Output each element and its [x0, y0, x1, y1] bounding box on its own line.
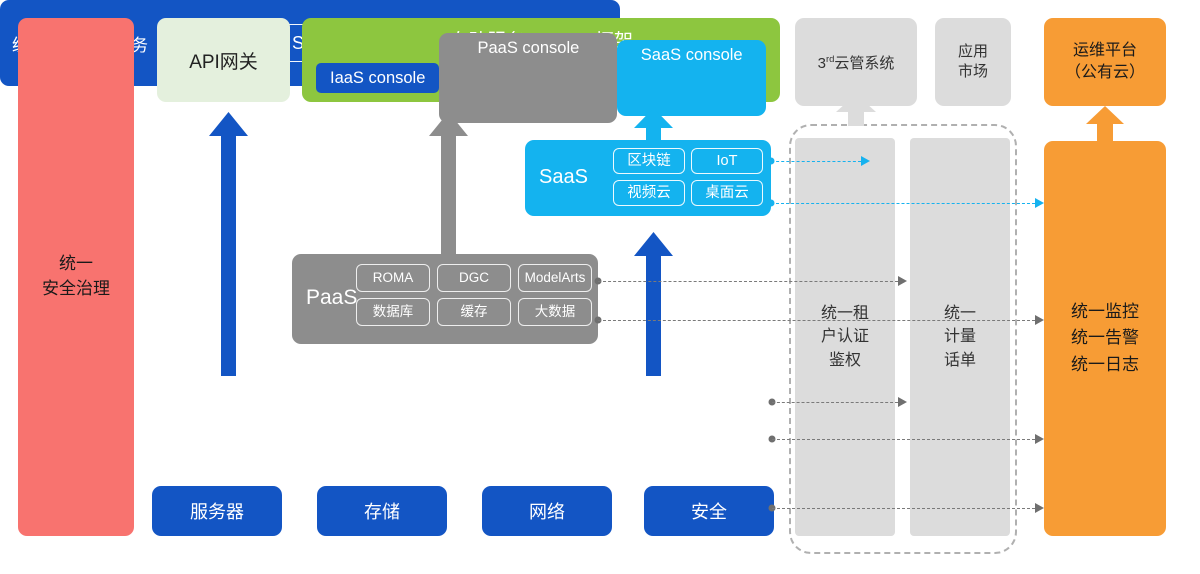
saas-tag-iot[interactable]: IoT: [691, 148, 763, 174]
hardware-box-network[interactable]: 网络: [482, 486, 612, 536]
governance-label: 统一 安全治理: [42, 252, 110, 301]
connector-paas-to-tenant-auth: [598, 281, 898, 282]
paas-block[interactable]: PaaS ROMA DGC ModelArts 数据库 缓存 大数据: [292, 254, 598, 344]
arrowhead-saas-to-tenant-auth: [861, 156, 870, 166]
connector-infra-to-ops-panel: [772, 439, 1035, 440]
cloud-mgmt-label: 3rd云管系统: [818, 52, 895, 73]
arrow-infra-to-saas: [634, 232, 673, 376]
hardware-label-server: 服务器: [190, 498, 244, 524]
api-gateway-label: API网关: [189, 47, 258, 74]
api-gateway-block[interactable]: API网关: [157, 18, 290, 102]
connector-saas-to-ops-panel: [771, 203, 1035, 204]
arrowhead-hardware-to-ops-panel: [1035, 503, 1044, 513]
connector-infra-to-tenant-auth: [772, 402, 898, 403]
ops-top-label: 运维平台 （公有云）: [1065, 40, 1145, 83]
hardware-box-server[interactable]: 服务器: [152, 486, 282, 536]
paas-console-pill[interactable]: PaaS console: [439, 33, 617, 123]
tenant-auth-label: 统一租 户认证 鉴权: [821, 302, 869, 372]
iaas-console-pill[interactable]: IaaS console: [316, 63, 439, 93]
saas-label: SaaS: [539, 166, 588, 189]
hardware-label-security: 安全: [691, 498, 727, 524]
third-party-cloud-management-block[interactable]: 3rd云管系统: [795, 18, 917, 106]
unified-monitoring-alarm-log-panel[interactable]: 统一监控 统一告警 统一日志: [1044, 141, 1166, 536]
arrowhead-paas-to-tenant-auth: [898, 276, 907, 286]
arrow-ops-panel-to-ops-top: [1086, 106, 1124, 142]
unified-metering-billing-column[interactable]: 统一 计量 话单: [910, 138, 1010, 536]
paas-tag-group: ROMA DGC ModelArts 数据库 缓存 大数据: [356, 264, 592, 326]
arrowhead-infra-to-tenant-auth: [898, 397, 907, 407]
arrow-paas-to-console: [429, 112, 468, 254]
paas-label: PaaS: [306, 286, 357, 310]
connector-saas-to-tenant-auth: [771, 161, 861, 162]
hardware-label-storage: 存储: [364, 498, 400, 524]
arrowhead-paas-to-ops-panel: [1035, 315, 1044, 325]
saas-tag-group: 区块链 IoT 视频云 桌面云: [613, 148, 763, 206]
paas-tag-dgc[interactable]: DGC: [437, 264, 511, 292]
arrow-infra-to-api-gateway: [209, 112, 248, 376]
saas-tag-video-cloud[interactable]: 视频云: [613, 180, 685, 206]
unified-tenant-auth-column[interactable]: 统一租 户认证 鉴权: [795, 138, 895, 536]
arrowhead-saas-to-ops-panel: [1035, 198, 1044, 208]
architecture-diagram: 统一 安全治理 API网关 自助服务Console框架 IaaS console…: [0, 0, 1200, 574]
hardware-label-network: 网络: [529, 498, 565, 524]
paas-tag-database[interactable]: 数据库: [356, 298, 430, 326]
ops-platform-public-cloud-block[interactable]: 运维平台 （公有云）: [1044, 18, 1166, 106]
metering-billing-label: 统一 计量 话单: [944, 302, 976, 372]
paas-tag-bigdata[interactable]: 大数据: [518, 298, 592, 326]
hardware-box-security[interactable]: 安全: [644, 486, 774, 536]
connector-hardware-to-ops-panel: [772, 508, 1035, 509]
saas-tag-blockchain[interactable]: 区块链: [613, 148, 685, 174]
connector-paas-to-ops-panel: [598, 320, 1035, 321]
ops-panel-label: 统一监控 统一告警 统一日志: [1071, 299, 1139, 378]
console-pill-group: IaaS console PaaS console SaaS console: [302, 62, 780, 94]
paas-tag-modelarts[interactable]: ModelArts: [518, 264, 592, 292]
app-market-block[interactable]: 应用 市场: [935, 18, 1011, 106]
unified-security-governance-block[interactable]: 统一 安全治理: [18, 18, 134, 536]
app-market-label: 应用 市场: [958, 42, 988, 83]
arrowhead-infra-to-ops-panel: [1035, 434, 1044, 444]
paas-tag-roma[interactable]: ROMA: [356, 264, 430, 292]
saas-block[interactable]: SaaS 区块链 IoT 视频云 桌面云: [525, 140, 771, 216]
paas-tag-cache[interactable]: 缓存: [437, 298, 511, 326]
hardware-box-storage[interactable]: 存储: [317, 486, 447, 536]
saas-tag-desktop-cloud[interactable]: 桌面云: [691, 180, 763, 206]
saas-console-pill[interactable]: SaaS console: [617, 40, 766, 116]
self-service-console-framework[interactable]: 自助服务Console框架 IaaS console PaaS console …: [302, 18, 780, 102]
